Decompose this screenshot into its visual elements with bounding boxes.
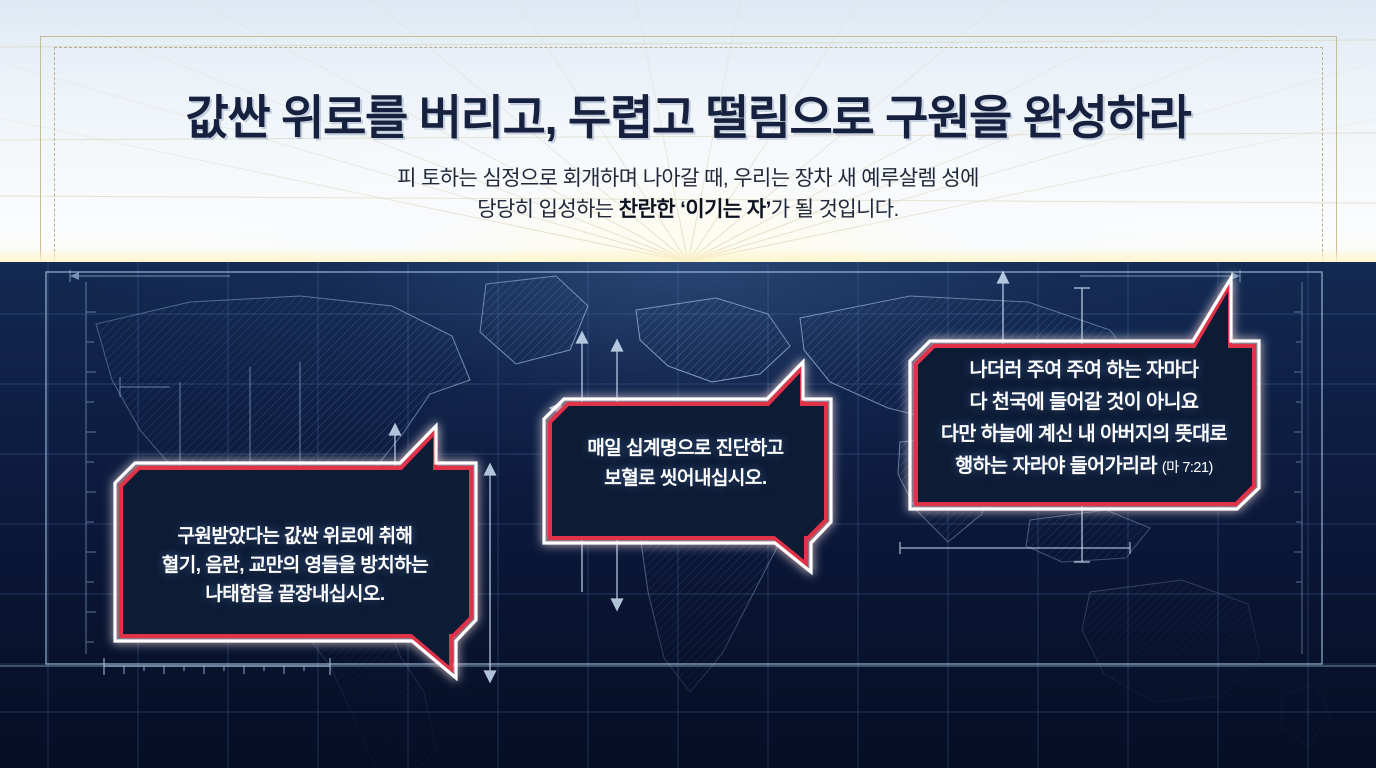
bubble-2-line-1: 매일 십계명으로 진단하고 [528,434,843,464]
bubble-3-line-2: 다 천국에 들어갈 것이 아니요 [894,386,1274,418]
presentation-slide: 값싼 위로를 버리고, 두렵고 떨림으로 구원을 완성하라 피 토하는 심정으로… [0,0,1376,768]
bubble-3-line-3: 다만 하늘에 계신 내 아버지의 뜻대로 [894,418,1274,450]
bubble-2-line-2: 보혈로 씻어내십시오. [528,464,843,494]
speech-bubble-3[interactable]: 나더러 주여 주여 하는 자마다 다 천국에 들어갈 것이 아니요 다만 하늘에… [894,278,1274,536]
bubble-3-line-4: 행하는 자라야 들어가리라 (마 7:21) [894,450,1274,484]
bubble-1-text: 구원받았다는 값싼 위로에 취해 혈기, 음란, 교만의 영들을 방치하는 나태… [95,522,495,609]
speech-bubble-2[interactable]: 매일 십계명으로 진단하고 보혈로 씻어내십시오. [528,378,843,564]
bubble-1-line-3: 나태함을 끝장내십시오. [95,580,495,609]
subtitle-line-2-post: 가 될 것입니다. [771,198,899,221]
bible-verse-reference: (마 7:21) [1162,460,1213,476]
bubble-2-text: 매일 십계명으로 진단하고 보혈로 씻어내십시오. [528,434,843,494]
bubble-3-line-4-text: 행하는 자라야 들어가리라 [955,455,1157,477]
subtitle-line-1: 피 토하는 심정으로 회개하며 나아갈 때, 우리는 장차 새 예루살렘 성에 [0,163,1376,194]
bubble-1-line-2: 혈기, 음란, 교만의 영들을 방치하는 [95,551,495,580]
bubble-1-line-1: 구원받았다는 값싼 위로에 취해 [95,522,495,551]
subtitle-line-2-pre: 당당히 입성하는 [477,198,619,221]
horizon-glow [0,248,1376,262]
vertical-scale-right [1294,282,1302,654]
subtitle-line-2: 당당히 입성하는 찬란한 ‘이기는 자’가 될 것입니다. [0,194,1376,225]
bubble-3-text: 나더러 주여 주여 하는 자마다 다 천국에 들어갈 것이 아니요 다만 하늘에… [894,354,1274,484]
subtitle: 피 토하는 심정으로 회개하며 나아갈 때, 우리는 장차 새 예루살렘 성에 … [0,163,1376,225]
bubble-3-line-1: 나더러 주여 주여 하는 자마다 [894,354,1274,386]
subtitle-emphasis: 찬란한 ‘이기는 자’ [619,198,771,221]
speech-bubble-1[interactable]: 구원받았다는 값싼 위로에 취해 혈기, 음란, 교만의 영들을 방치하는 나태… [95,438,495,670]
page-title: 값싼 위로를 버리고, 두렵고 떨림으로 구원을 완성하라 [0,79,1376,148]
